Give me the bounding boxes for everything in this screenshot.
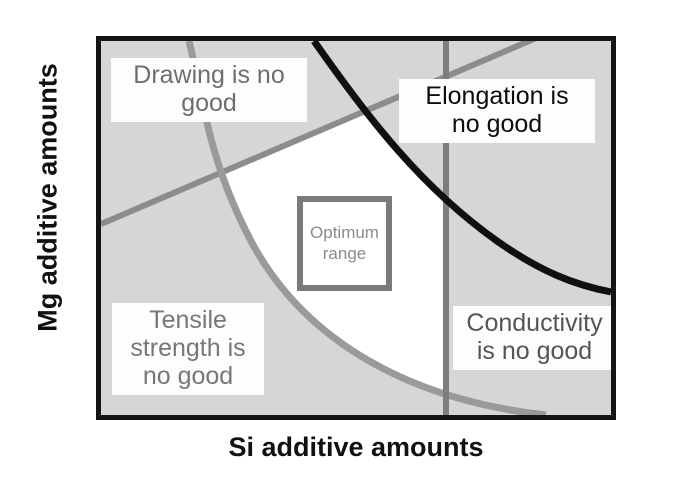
label-drawing-is-no-good: Drawing is no good: [111, 58, 307, 122]
label-tensile-line3: no good: [118, 362, 258, 390]
label-elongation-is-no-good: Elongation is no good: [399, 79, 595, 143]
plot-area: Drawing is no good Elongation is no good…: [96, 36, 616, 420]
label-conductivity-line1: Conductivity: [457, 309, 612, 337]
label-tensile-strength-is-no-good: Tensile strength is no good: [112, 303, 264, 395]
label-tensile-line2: strength is: [118, 334, 258, 362]
optimum-range-line1: Optimum: [310, 223, 379, 244]
process-window-figure: Mg additive amounts: [0, 0, 684, 486]
label-conductivity-is-no-good: Conductivity is no good: [453, 306, 616, 370]
optimum-range-line2: range: [323, 244, 366, 265]
y-axis-title: Mg additive amounts: [33, 18, 64, 378]
optimum-range-box: Optimum range: [297, 196, 392, 291]
label-drawing-line2: good: [117, 89, 301, 117]
label-elongation-line1: Elongation is: [405, 82, 589, 110]
label-drawing-line1: Drawing is no: [117, 61, 301, 89]
label-elongation-line2: no good: [405, 110, 589, 138]
label-conductivity-line2: is no good: [457, 337, 612, 365]
x-axis-title: Si additive amounts: [96, 432, 616, 463]
label-tensile-line1: Tensile: [118, 306, 258, 334]
